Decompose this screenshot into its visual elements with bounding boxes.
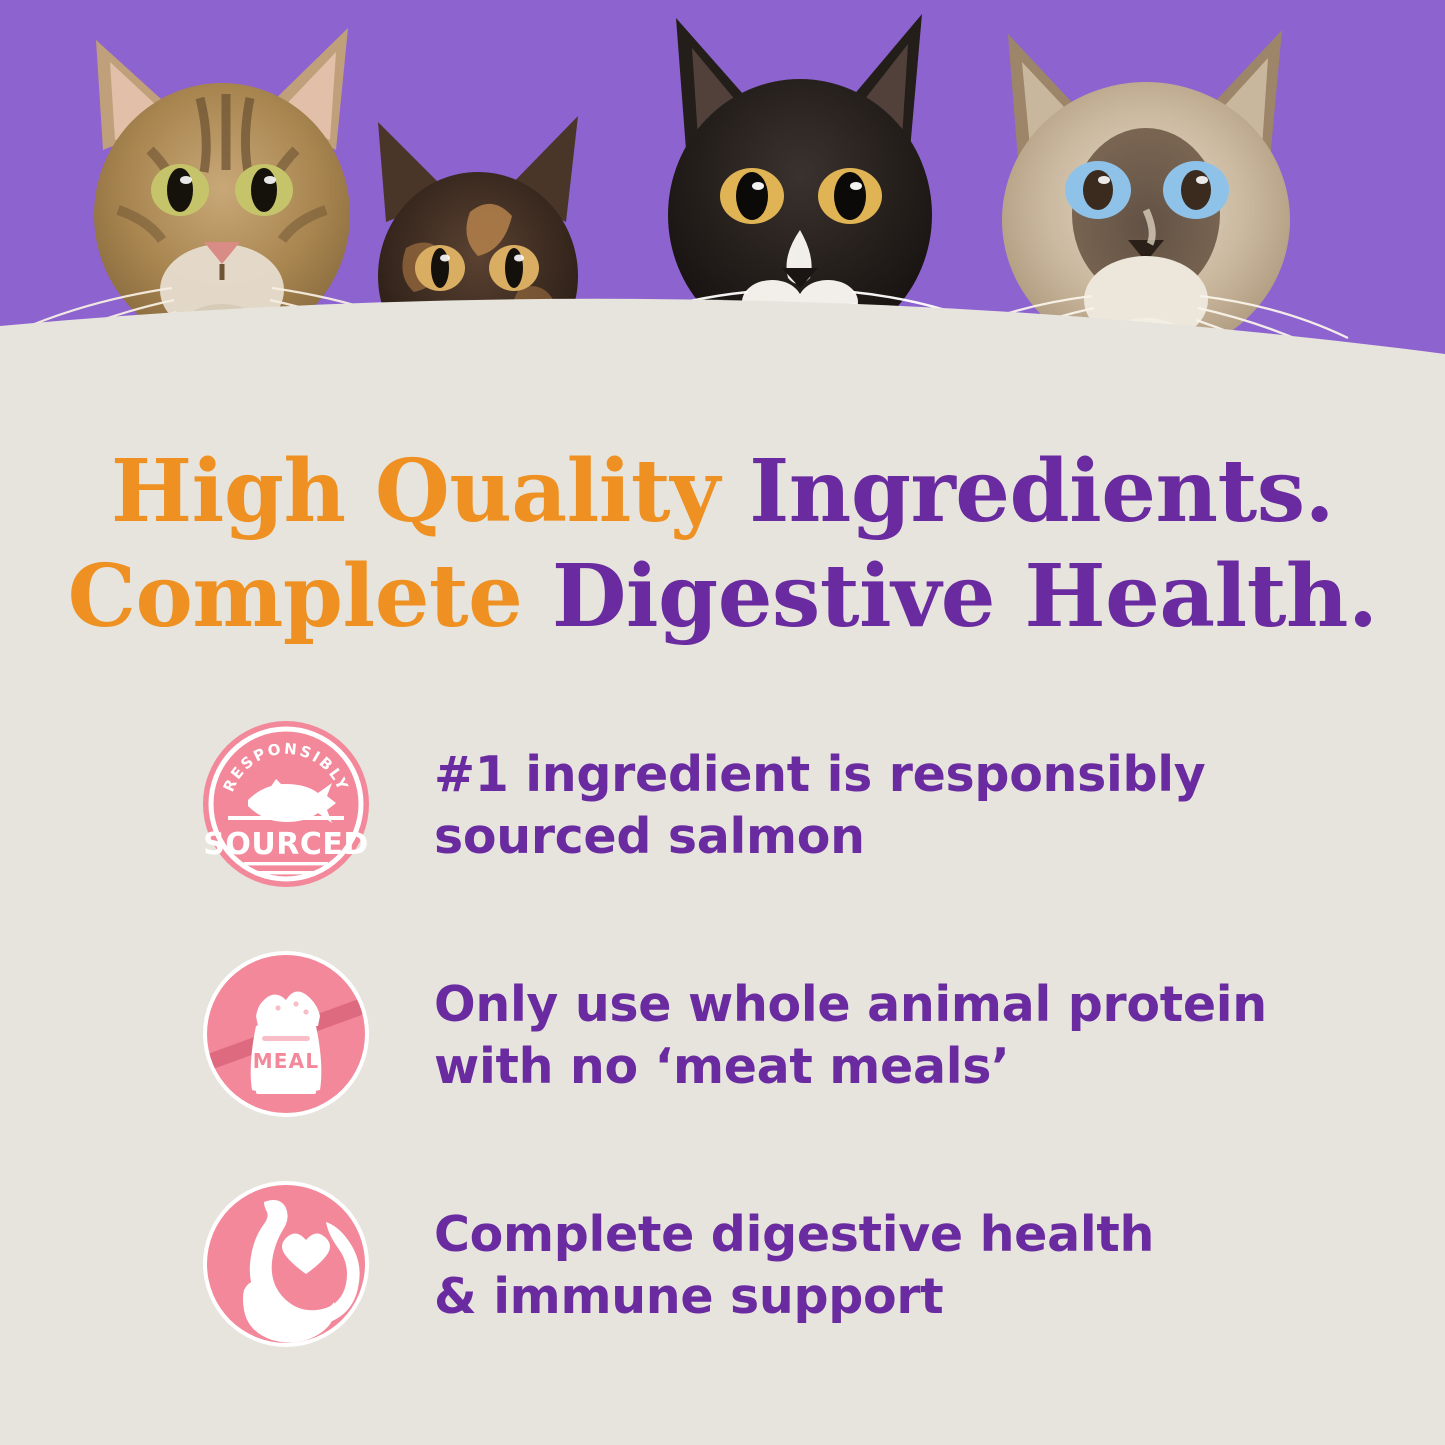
feature-line-1: Only use whole animal protein	[434, 974, 1267, 1036]
bag-label: MEAL	[253, 1049, 320, 1073]
feature-line-2: with no ‘meat meals’	[434, 1036, 1267, 1098]
feature-list: RESPONSIBLY SOURCED #1 ingredient is res…	[200, 718, 1320, 1350]
list-item: MEAL Only use whole animal protein with …	[200, 948, 1320, 1120]
list-item: Complete digestive health & immune suppo…	[200, 1178, 1320, 1350]
feature-text: #1 ingredient is responsibly sourced sal…	[434, 718, 1205, 867]
responsibly-sourced-fish-badge-icon: RESPONSIBLY SOURCED	[200, 718, 372, 890]
cat-illustrations	[0, 0, 1445, 400]
feature-text: Only use whole animal protein with no ‘m…	[434, 948, 1267, 1097]
feature-text: Complete digestive health & immune suppo…	[434, 1178, 1154, 1327]
headline-line-2-orange: Complete	[68, 546, 552, 647]
feature-line-2: & immune support	[434, 1266, 1154, 1328]
no-meat-meal-bag-icon: MEAL	[200, 948, 372, 1120]
headline-line-1-purple: Ingredients.	[749, 441, 1334, 542]
feature-line-1: Complete digestive health	[434, 1204, 1154, 1266]
headline-line-1-orange: High Quality	[111, 441, 749, 542]
cat-photo-banner	[0, 0, 1445, 400]
headline-line-2-purple: Digestive Health.	[552, 546, 1378, 647]
badge-main-label: SOURCED	[203, 827, 368, 862]
headline-line-1: High Quality Ingredients.	[0, 440, 1445, 545]
list-item: RESPONSIBLY SOURCED #1 ingredient is res…	[200, 718, 1320, 890]
feature-line-2: sourced salmon	[434, 806, 1205, 868]
stomach-heart-digestive-health-icon	[200, 1178, 372, 1350]
promo-infographic: High Quality Ingredients. Complete Diges…	[0, 0, 1445, 1445]
headline-line-2: Complete Digestive Health.	[0, 545, 1445, 650]
feature-line-1: #1 ingredient is responsibly	[434, 744, 1205, 806]
page-title: High Quality Ingredients. Complete Diges…	[0, 440, 1445, 650]
meal-bag-icon: MEAL	[251, 991, 322, 1094]
